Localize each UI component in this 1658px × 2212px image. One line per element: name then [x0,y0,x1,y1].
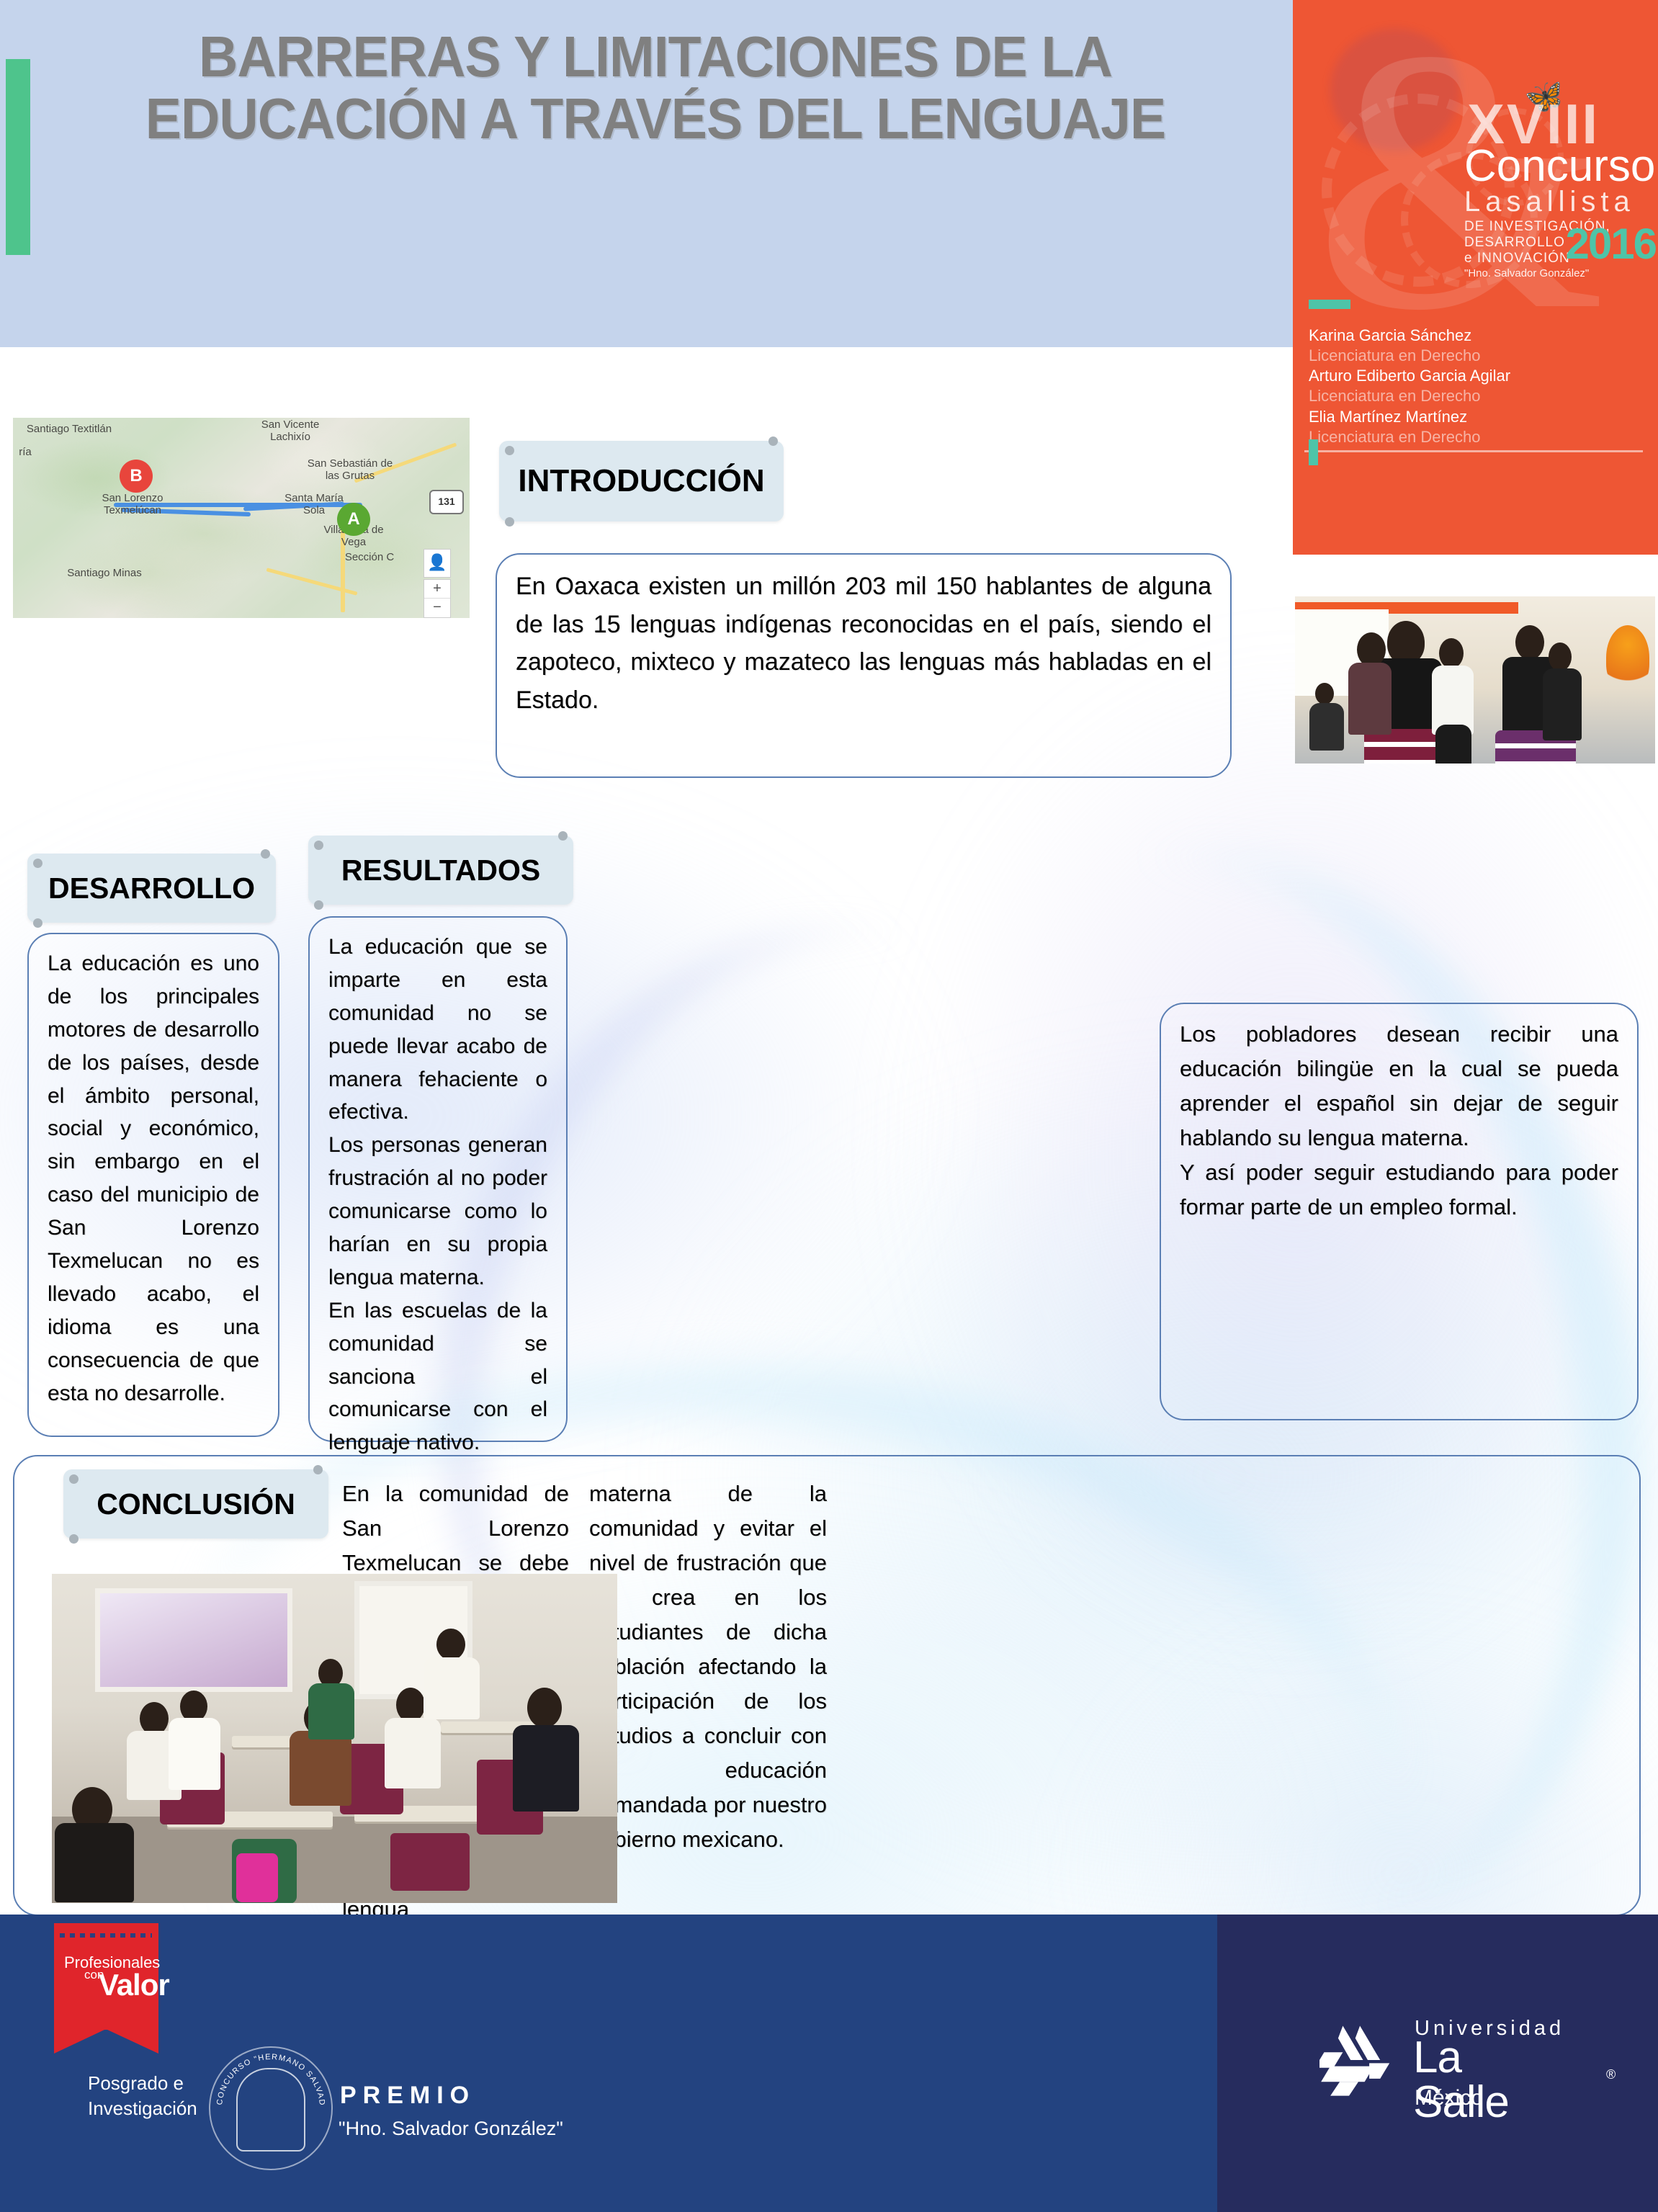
card-desarrollo: La educación es uno de los principales m… [27,933,279,1437]
map-label: San Sebastián de las Grutas [300,458,400,482]
highway-shield: 131 [429,490,464,514]
author-divider [1304,450,1643,452]
section-body: La educación es uno de los principales m… [48,947,259,1410]
premio-subtitle: "Hno. Salvador González" [339,2118,563,2140]
map-marker-b[interactable]: B [120,460,153,493]
green-accent-bar [6,59,30,255]
card-introduccion: En Oaxaca existen un millón 203 mil 150 … [496,553,1232,778]
contest-honoree: "Hno. Salvador González" [1464,267,1657,279]
contest-name-secondary: Lasallista [1464,187,1657,217]
section-title: CONCLUSIÓN [63,1469,328,1539]
author-name: Elia Martínez Martínez [1309,407,1647,427]
section-header-introduccion: INTRODUCCIÓN [499,441,784,521]
pegman-icon[interactable]: 👤 [424,549,451,578]
map-label: Santiago Textitlán [26,424,112,436]
section-body: En Oaxaca existen un millón 203 mil 150 … [516,568,1211,720]
map-label: Santiago Minas [65,568,144,580]
section-title: DESARROLLO [27,854,276,923]
map-zoom-controls[interactable]: + − [424,579,451,618]
section-title: RESULTADOS [308,836,573,905]
section-title: INTRODUCCIÓN [499,441,784,521]
map-label: San Vicente Lachixío [243,419,337,443]
footer-bar: Profesionales con Valor Posgrado e Inves… [0,1915,1658,2212]
zoom-in-button[interactable]: + [424,580,450,599]
profesionales-con-valor-ribbon: Profesionales con Valor [54,1923,158,2030]
la-salle-chevron-icon [1319,2021,1397,2099]
author-name: Karina Garcia Sánchez [1309,326,1647,346]
section-body: Los pobladores desean recibir una educac… [1180,1017,1618,1224]
map-label: San Lorenzo Texmelúcan [82,493,183,516]
premio-word: PREMIO [340,2082,475,2110]
ribbon-line-3: Valor [99,1968,169,2002]
section-header-conclusion: CONCLUSIÓN [63,1469,328,1539]
classroom-students-photo [52,1574,617,1903]
university-country: México [1415,2086,1483,2110]
author-degree: Licenciatura en Derecho [1309,427,1647,447]
contest-logo-panel: & 🦋 XVIII Concurso Lasallista DE INVESTI… [1293,0,1658,555]
registered-mark: ® [1606,2067,1616,2082]
zoom-out-button[interactable]: − [424,599,450,617]
conclusion-column-2: materna de la comunidad y evitar el nive… [589,1477,827,1858]
contest-year: 2016 [1566,219,1656,269]
university-name: La Salle [1413,2036,1509,2125]
section-header-resultados: RESULTADOS [308,836,573,905]
section-header-desarrollo: DESARROLLO [27,854,276,923]
ribbon-dotted-line [60,1933,152,1938]
author-degree: Licenciatura en Derecho [1309,386,1647,406]
contest-wordmark: XVIII Concurso Lasallista DE INVESTIGACI… [1464,97,1657,279]
section-body: La educación que se imparte en esta comu… [328,931,547,1459]
author-list: Karina Garcia Sánchez Licenciatura en De… [1309,326,1647,447]
portrait-outline-icon [236,2068,305,2151]
contest-name: Concurso [1464,146,1657,187]
author-name: Arturo Ediberto Garcia Agilar [1309,366,1647,386]
premio-seal-icon: CONCURSO "HERMANO SALVADOR GONZÁLEZ" [209,2046,333,2170]
map-label: ría [13,447,37,459]
map-marker-a[interactable]: A [337,503,370,536]
route-map-image: Santiago Textitlán San Vicente Lachixío … [13,418,470,618]
page-title: BARRERAS Y LIMITACIONES DE LA EDUCACIÓN … [80,26,1231,151]
author-dash-accent [1309,300,1350,309]
poster-canvas: BARRERAS Y LIMITACIONES DE LA EDUCACIÓN … [0,0,1658,2212]
header-band: BARRERAS Y LIMITACIONES DE LA EDUCACIÓN … [0,0,1293,347]
author-degree: Licenciatura en Derecho [1309,346,1647,366]
card-pobladores: Los pobladores desean recibir una educac… [1160,1003,1639,1420]
traditional-dance-photo [1295,596,1655,764]
author-tick-accent [1309,439,1318,465]
card-resultados: La educación que se imparte en esta comu… [308,916,568,1442]
posgrado-label: Posgrado e Investigación [88,2071,197,2121]
map-label: Sección C [330,552,409,564]
